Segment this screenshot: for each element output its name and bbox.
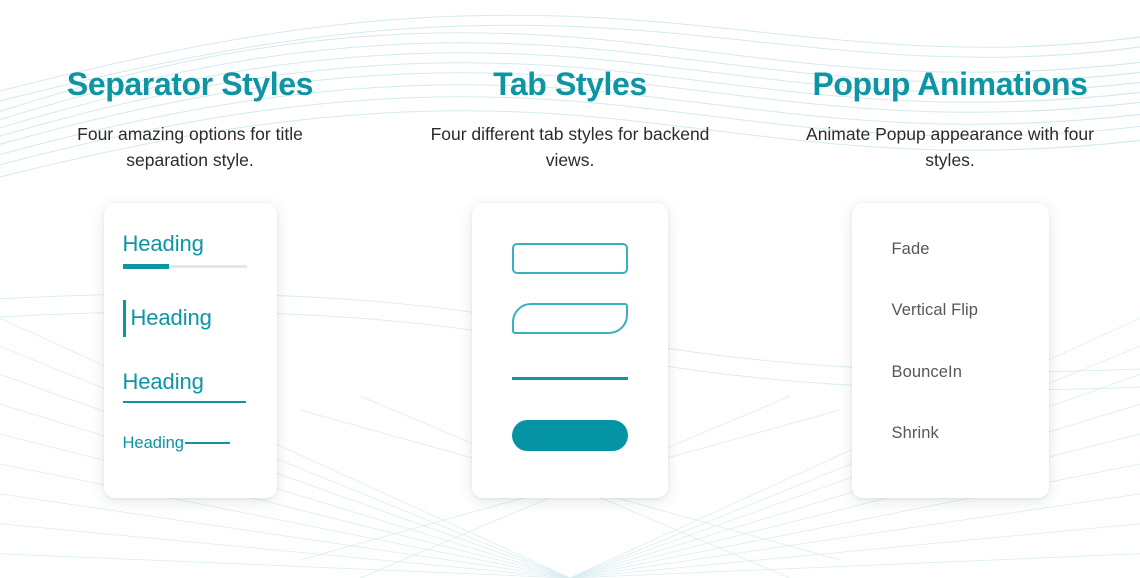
tab-style-underline-bar[interactable] [512,363,628,394]
separator-rule-vertical-bar [123,300,126,337]
column-tab-styles: Tab Styles Four different tab styles for… [380,0,760,578]
tab-style-filled-pill[interactable] [512,420,628,451]
description-tab-styles: Four different tab styles for backend vi… [420,121,720,174]
popup-animation-option-shrink[interactable]: Shrink [892,425,1049,442]
tab-underline-rule [512,377,628,380]
separator-heading-label: Heading [123,435,184,452]
popup-animation-option-bouncein[interactable]: BounceIn [892,364,1049,381]
separator-heading-label: Heading [123,371,204,393]
separator-rule-full-underline [123,401,246,403]
popup-animation-card: Fade Vertical Flip BounceIn Shrink [852,203,1049,498]
feature-columns: Separator Styles Four amazing options fo… [0,0,1140,578]
separator-rule-partial [123,265,247,268]
tab-preview-card [472,203,668,498]
popup-animation-option-vertical-flip[interactable]: Vertical Flip [892,302,1049,319]
separator-heading-label: Heading [123,233,204,255]
promo-feature-banner: Separator Styles Four amazing options fo… [0,0,1140,578]
popup-animation-option-fade[interactable]: Fade [892,241,1049,258]
column-separator-styles: Separator Styles Four amazing options fo… [0,0,380,578]
tab-style-outlined-leaf-corners[interactable] [512,303,628,334]
description-separator-styles: Four amazing options for title separatio… [40,121,340,174]
separator-style-full-thin-underline[interactable]: Heading [104,371,277,403]
separator-heading-label: Heading [131,307,212,329]
separator-rule-trailing-line [185,442,230,444]
page-title-tab-styles: Tab Styles [493,66,647,103]
page-title-popup-animations: Popup Animations [812,66,1087,103]
separator-style-trailing-line[interactable]: Heading [104,435,277,452]
column-popup-animations: Popup Animations Animate Popup appearanc… [760,0,1140,578]
separator-style-thick-partial-underline[interactable]: Heading [104,233,277,268]
page-title-separator-styles: Separator Styles [67,66,313,103]
separator-preview-card: Heading Heading Heading Heading [104,203,277,498]
tab-style-outlined-rectangle[interactable] [512,243,628,274]
description-popup-animations: Animate Popup appearance with four style… [800,121,1100,174]
separator-style-left-vertical-bar[interactable]: Heading [104,300,277,337]
